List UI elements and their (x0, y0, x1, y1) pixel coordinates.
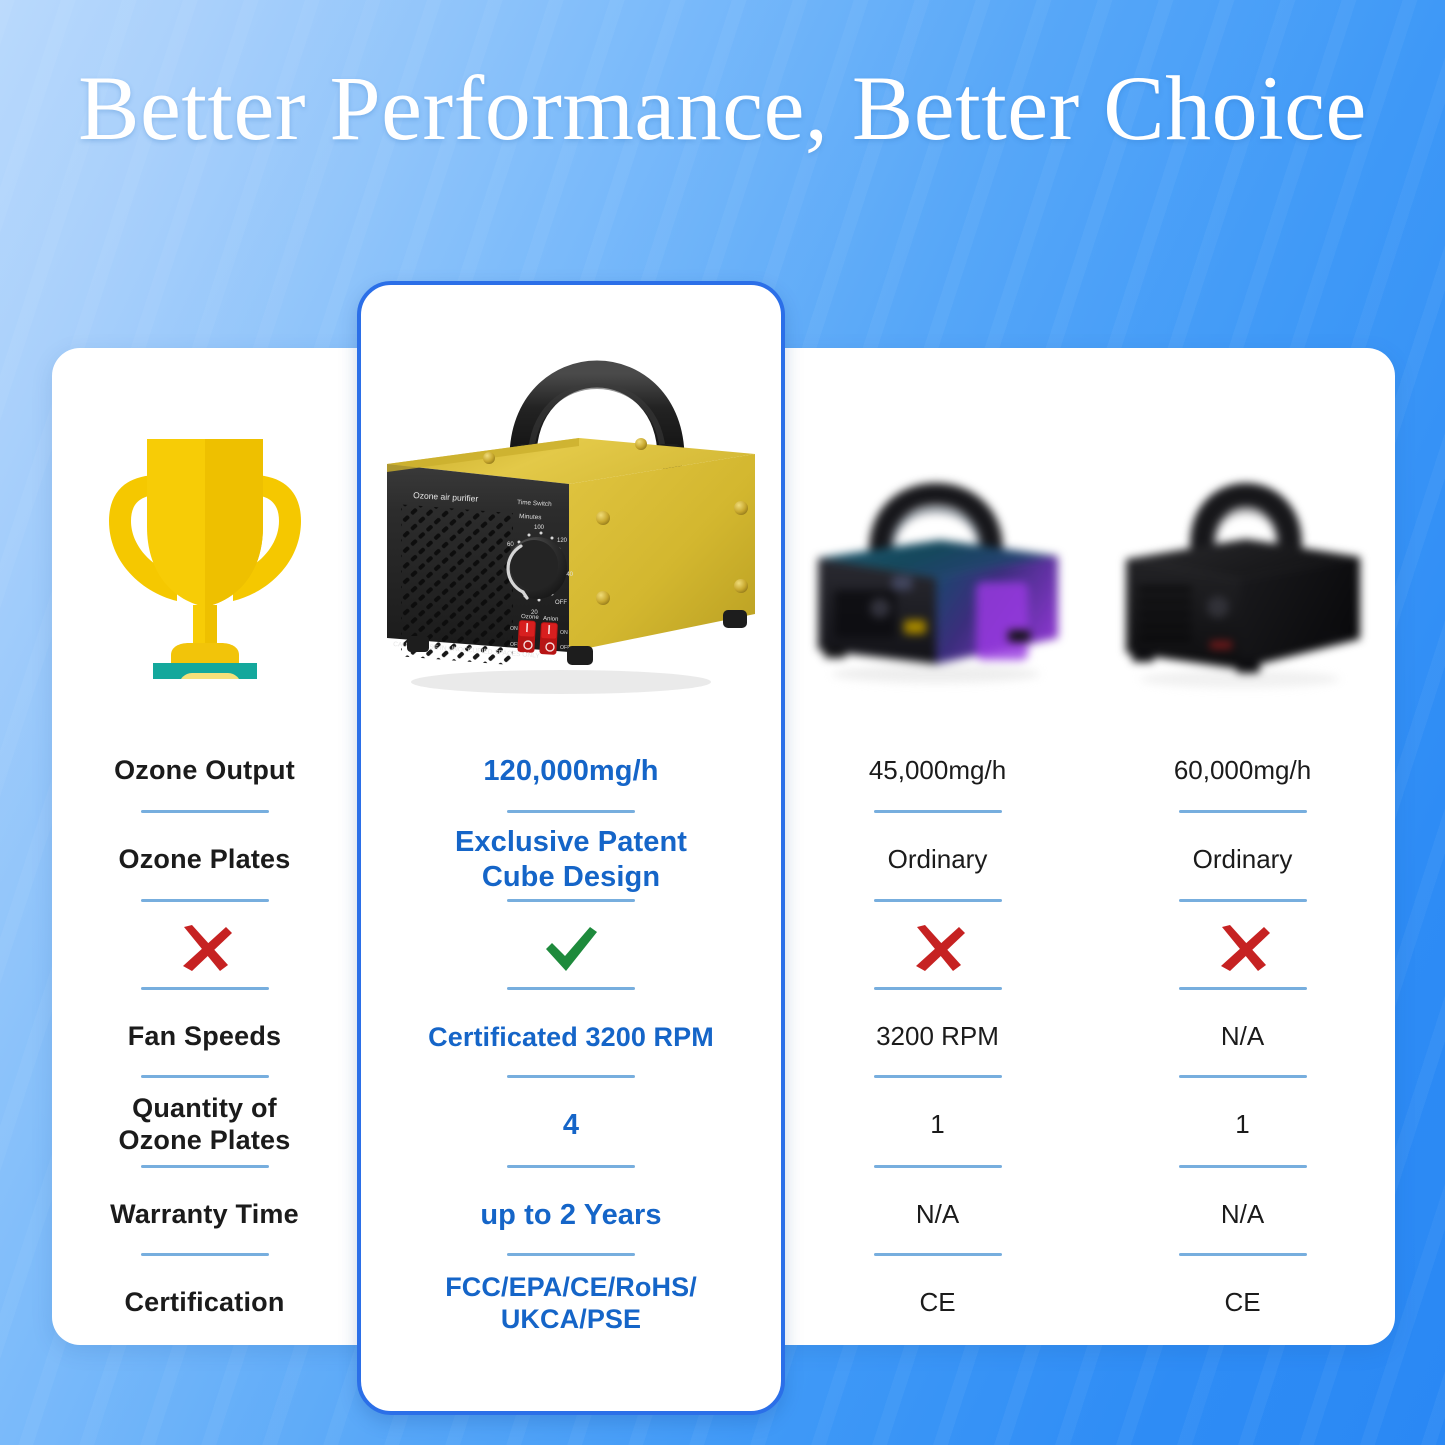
row-separator (141, 810, 269, 813)
competitor-2-value-cell: N/A (1090, 1171, 1395, 1260)
feature-label-text: Certification (124, 1287, 284, 1319)
featured-value-cell: up to 2 Years (357, 1171, 785, 1260)
comparison-infographic: Better Performance, Better Choice (0, 0, 1445, 1445)
competitor-1-value-text: N/A (916, 1199, 959, 1230)
competitor-2-value-rows: 60,000mg/hOrdinaryN/A1N/ACE (1090, 348, 1395, 1415)
competitor-1-value-cell: Ordinary (785, 816, 1090, 905)
featured-value-cell: 4 (357, 1081, 785, 1170)
featured-value-cell: FCC/EPA/CE/RoHS/UKCA/PSE (357, 1259, 785, 1348)
feature-label-cell: Certification (52, 1259, 357, 1348)
row-separator (507, 810, 635, 813)
feature-label-cell: Warranty Time (52, 1171, 357, 1260)
feature-label-rows: Ozone OutputOzone PlatesFan SpeedsQuanti… (52, 348, 357, 1415)
row-separator (507, 1165, 635, 1168)
competitor-1-value-text: 3200 RPM (876, 1021, 999, 1052)
featured-value-rows: 120,000mg/hExclusive PatentCube DesignCe… (357, 348, 785, 1415)
feature-label-text: Quantity ofOzone Plates (119, 1093, 291, 1157)
competitor-1-value-text: 45,000mg/h (869, 755, 1006, 786)
row-separator (1179, 1075, 1307, 1078)
feature-label-text: Ozone Plates (119, 844, 291, 876)
feature-label-cell: Quantity ofOzone Plates (52, 1081, 357, 1170)
comparison-grid: Ozone OutputOzone PlatesFan SpeedsQuanti… (52, 348, 1395, 1415)
feature-label-text: Fan Speeds (128, 1021, 282, 1053)
row-separator (141, 1075, 269, 1078)
row-separator (507, 1075, 635, 1078)
column-feature-labels: Ozone OutputOzone PlatesFan SpeedsQuanti… (52, 348, 357, 1415)
competitor-2-value-text: CE (1224, 1287, 1260, 1318)
row-separator (1179, 987, 1307, 990)
featured-value-cell: 120,000mg/h (357, 727, 785, 816)
competitor-1-value-text: Ordinary (888, 844, 988, 875)
competitor-1-value-text: CE (919, 1287, 955, 1318)
row-separator (874, 1165, 1002, 1168)
row-separator (141, 899, 269, 902)
competitor-2-value-text: 1 (1235, 1109, 1249, 1140)
featured-value-cell (357, 905, 785, 994)
row-separator (507, 899, 635, 902)
feature-label-text: Ozone Output (114, 755, 295, 787)
row-separator (1179, 1253, 1307, 1256)
competitor-1-value-cell: 45,000mg/h (785, 727, 1090, 816)
row-separator (507, 1253, 635, 1256)
featured-value-text: up to 2 Years (480, 1198, 661, 1233)
row-separator (141, 987, 269, 990)
column-competitor-2: 60,000mg/hOrdinaryN/A1N/ACE (1090, 348, 1395, 1415)
row-separator (874, 1075, 1002, 1078)
row-separator (874, 1253, 1002, 1256)
feature-label-text: Warranty Time (110, 1199, 299, 1231)
feature-label-cell: Fan Speeds (52, 993, 357, 1082)
cross-icon (1214, 923, 1272, 975)
competitor-2-value-text: 60,000mg/h (1174, 755, 1311, 786)
competitor-2-value-text: Ordinary (1193, 844, 1293, 875)
featured-value-cell: Certificated 3200 RPM (357, 993, 785, 1082)
competitor-2-value-cell: Ordinary (1090, 816, 1395, 905)
competitor-2-value-text: N/A (1221, 1021, 1264, 1052)
row-separator (1179, 810, 1307, 813)
featured-value-text: Certificated 3200 RPM (428, 1021, 714, 1053)
cross-icon (176, 923, 234, 975)
competitor-1-value-cell: CE (785, 1259, 1090, 1348)
competitor-1-value-cell: 3200 RPM (785, 993, 1090, 1082)
row-separator (507, 987, 635, 990)
page-title: Better Performance, Better Choice (0, 62, 1445, 154)
row-separator (141, 1253, 269, 1256)
competitor-1-value-cell: N/A (785, 1171, 1090, 1260)
row-separator (1179, 1165, 1307, 1168)
feature-label-cell: Ozone Plates (52, 816, 357, 905)
competitor-2-value-cell: 1 (1090, 1081, 1395, 1170)
column-featured-product: Ozone air purifier Time Switch Minutes (357, 348, 785, 1415)
feature-label-cell (52, 905, 357, 994)
competitor-2-value-cell: N/A (1090, 993, 1395, 1082)
featured-value-text: Exclusive PatentCube Design (455, 825, 687, 895)
column-competitor-1: 45,000mg/hOrdinary3200 RPM1N/ACE (785, 348, 1090, 1415)
competitor-2-value-cell (1090, 905, 1395, 994)
row-separator (874, 810, 1002, 813)
row-separator (1179, 899, 1307, 902)
featured-value-text: FCC/EPA/CE/RoHS/UKCA/PSE (445, 1271, 697, 1336)
featured-value-text: 120,000mg/h (483, 754, 658, 789)
competitor-2-value-cell: CE (1090, 1259, 1395, 1348)
competitor-2-value-text: N/A (1221, 1199, 1264, 1230)
row-separator (141, 1165, 269, 1168)
featured-value-text: 4 (563, 1108, 579, 1143)
row-separator (874, 899, 1002, 902)
competitor-1-value-cell: 1 (785, 1081, 1090, 1170)
competitor-1-value-rows: 45,000mg/hOrdinary3200 RPM1N/ACE (785, 348, 1090, 1415)
competitor-1-value-text: 1 (930, 1109, 944, 1140)
feature-label-cell: Ozone Output (52, 727, 357, 816)
check-icon (542, 923, 600, 975)
competitor-1-value-cell (785, 905, 1090, 994)
row-separator (874, 987, 1002, 990)
featured-value-cell: Exclusive PatentCube Design (357, 816, 785, 905)
cross-icon (909, 923, 967, 975)
competitor-2-value-cell: 60,000mg/h (1090, 727, 1395, 816)
